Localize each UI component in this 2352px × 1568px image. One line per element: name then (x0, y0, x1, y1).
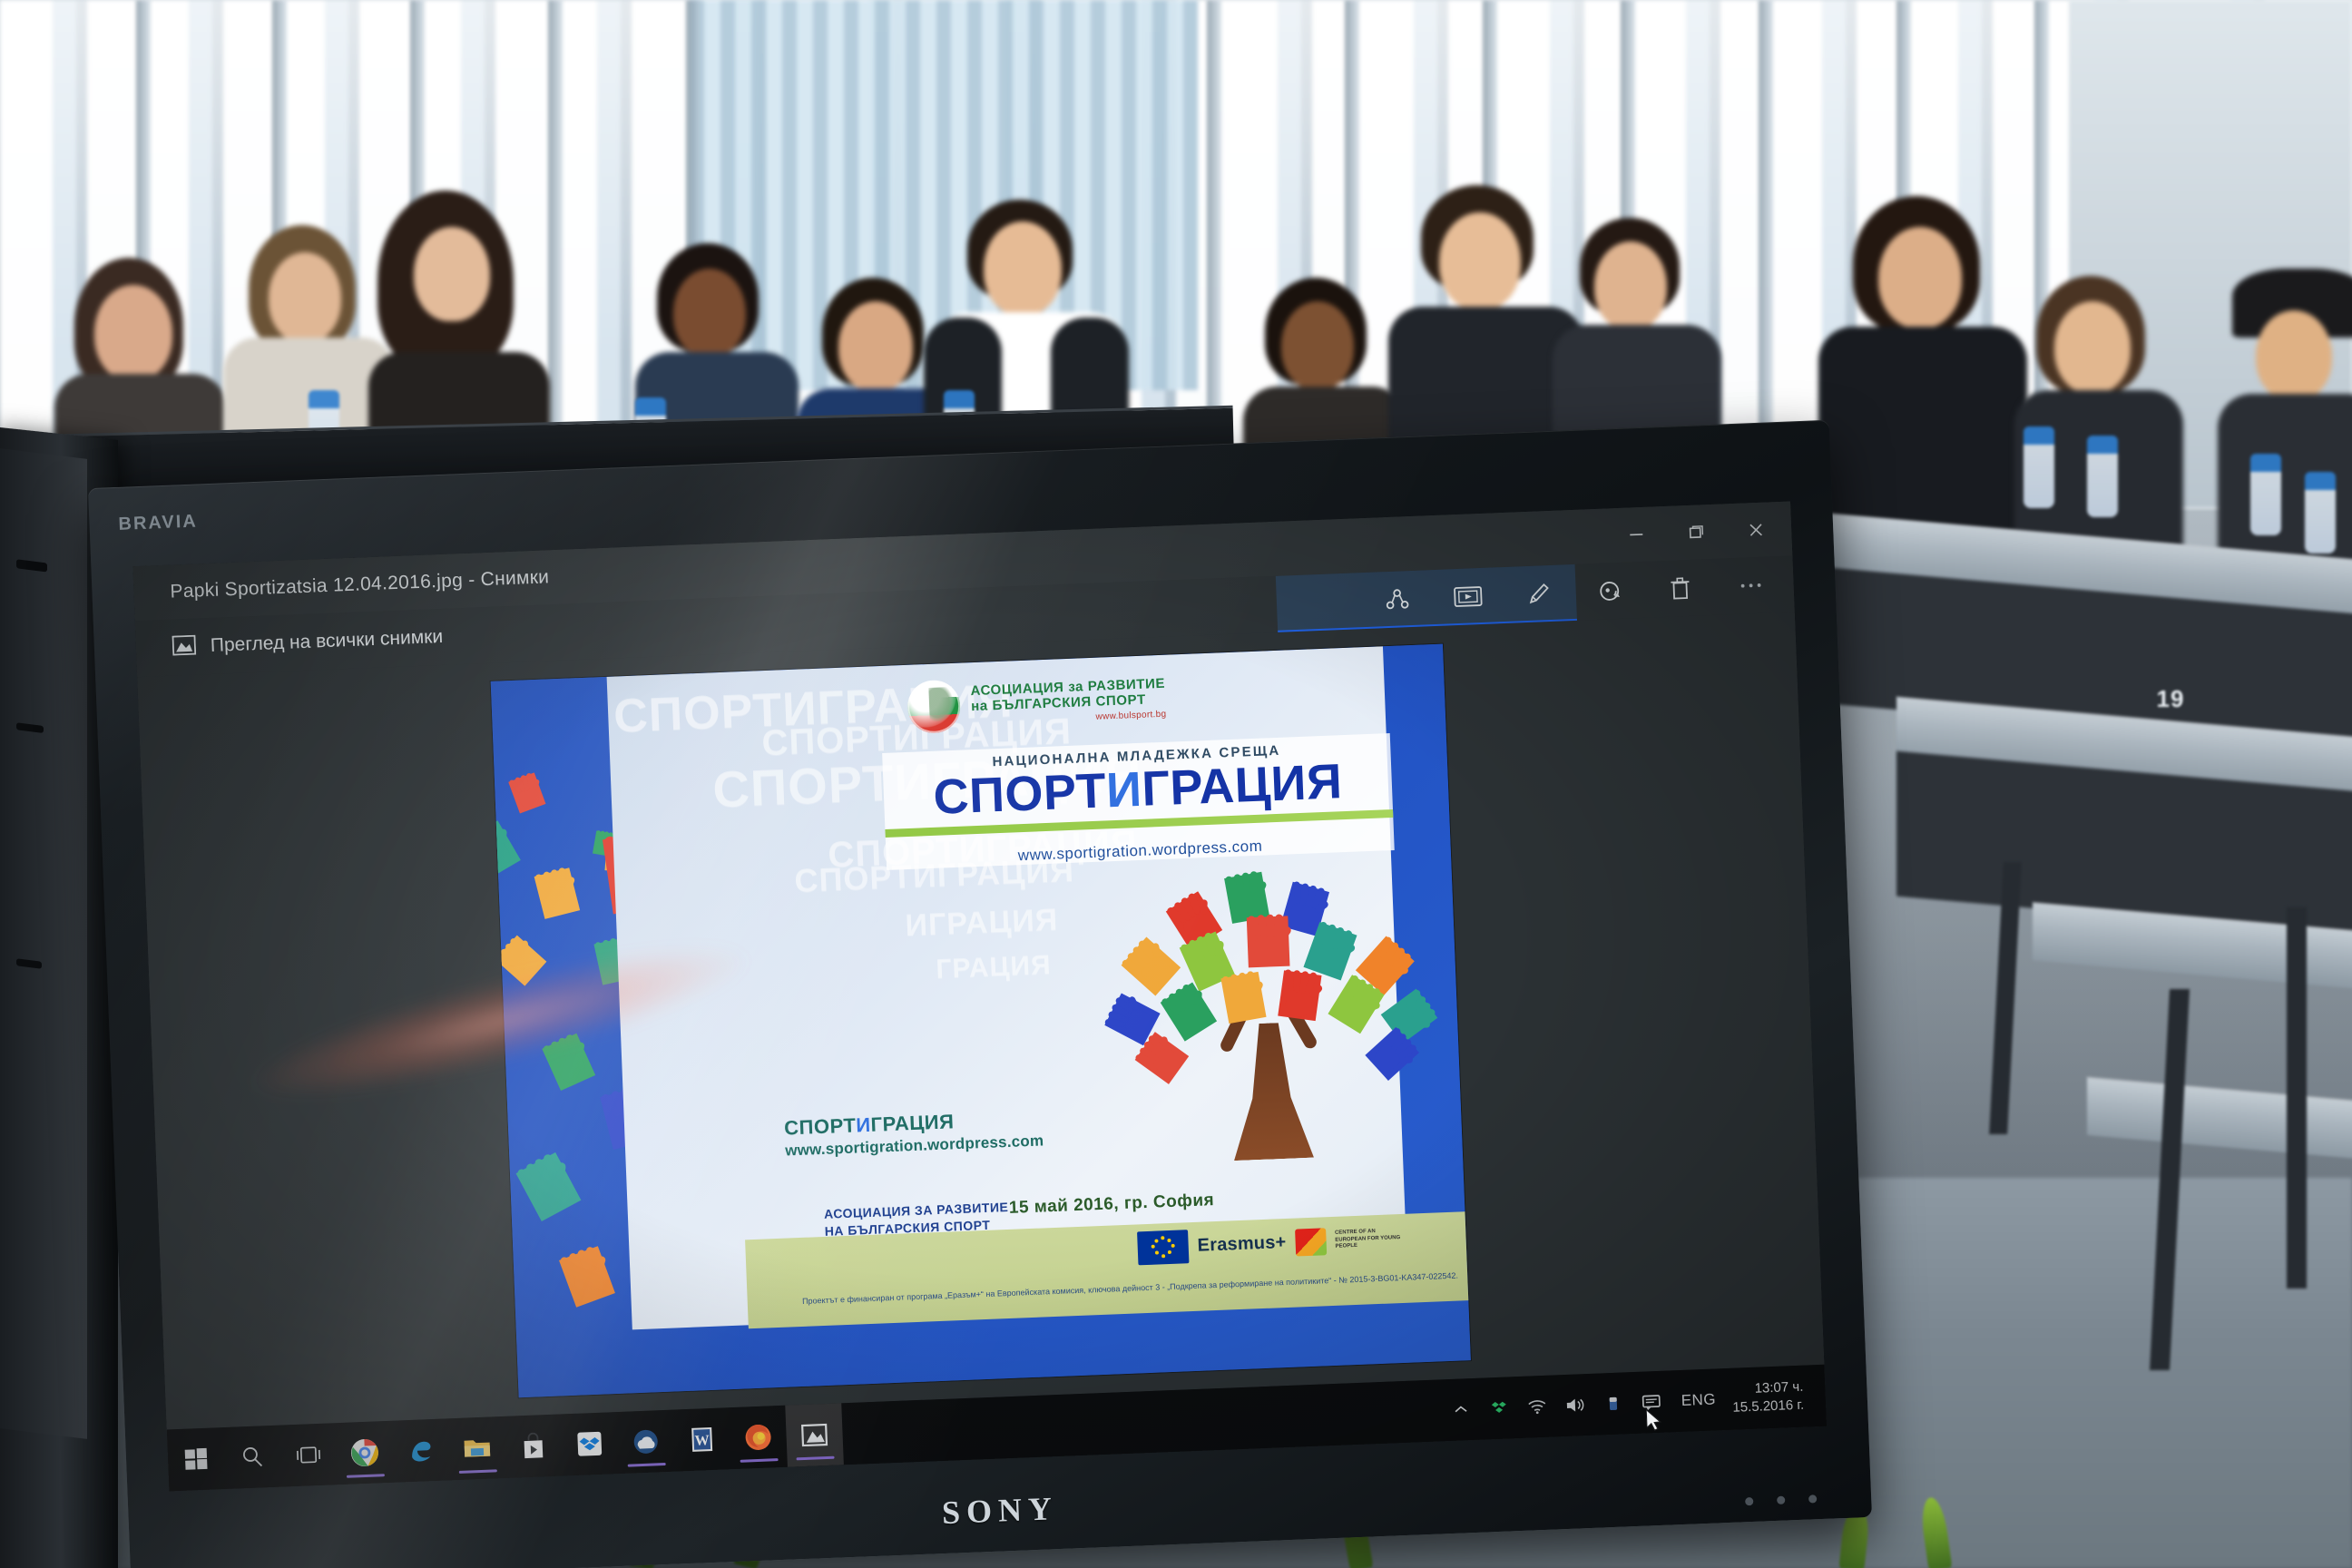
window-title: Papki Sportizatsia 12.04.2016.jpg - Сним… (170, 566, 550, 603)
watermark-text: ГРАЦИЯ (936, 950, 1052, 985)
slide-site-url: www.sportigration.wordpress.com (886, 832, 1394, 870)
title-part-2: ГРАЦИЯ (1141, 754, 1343, 817)
slide-content-panel: СПОРТИГРАЦИЯ СПОРТИГРАЦИЯ СПОРТИГРАЦИЯ С… (607, 646, 1409, 1329)
association-name: АСОЦИАЦИЯ за РАЗВИТИЕ на БЪЛГАРСКИЯ СПОР… (970, 676, 1166, 727)
task-view-button[interactable] (279, 1423, 338, 1486)
word-button[interactable]: W (672, 1407, 731, 1471)
youth-programme-label: CENTRE OF AN EUROPEAN FOR YOUNG PEOPLE (1335, 1228, 1403, 1250)
firefox-button[interactable] (729, 1406, 788, 1469)
eu-flag-icon (1137, 1230, 1189, 1265)
chevron-up-icon[interactable] (1441, 1378, 1482, 1442)
photos-button[interactable] (785, 1403, 844, 1466)
svg-text:W: W (694, 1433, 710, 1449)
left-monitor-rear-panel (0, 448, 87, 1439)
title-accent-letter: И (1105, 762, 1143, 818)
close-button[interactable] (1725, 502, 1787, 559)
taskbar-clock[interactable]: 13:07 ч. 15.5.2016 г. (1726, 1377, 1817, 1417)
edge-button[interactable] (392, 1418, 451, 1482)
water-bottle (2024, 426, 2054, 508)
slideshow-button[interactable] (1432, 567, 1504, 626)
bravia-logo: BRAVIA (118, 511, 198, 534)
left-brand-accent-letter: И (856, 1113, 871, 1137)
minimize-button[interactable] (1605, 506, 1667, 563)
left-brand-part-2: ГРАЦИЯ (870, 1110, 955, 1136)
battery-icon[interactable] (1593, 1372, 1634, 1436)
file-explorer-button[interactable] (448, 1416, 507, 1480)
sony-logo: SONY (941, 1489, 1059, 1532)
tree-trunk (1229, 1022, 1314, 1161)
delete-button[interactable] (1643, 559, 1716, 618)
search-button[interactable] (223, 1426, 282, 1489)
erasmus-label: Erasmus+ (1197, 1232, 1287, 1257)
dropbox-tray-icon[interactable] (1479, 1377, 1520, 1440)
association-logo-block: АСОЦИАЦИЯ за РАЗВИТИЕ на БЪЛГАРСКИЯ СПОР… (906, 671, 1167, 734)
left-brand-part-1: СПОРТ (784, 1113, 857, 1139)
rotate-button[interactable] (1573, 562, 1646, 621)
sony-bravia-monitor: BRAVIA SONY Papki Sportizatsia 12.04.201… (88, 420, 1872, 1568)
edit-button[interactable] (1503, 564, 1575, 623)
window-controls (1605, 502, 1787, 563)
slide-image: СПОРТИГРАЦИЯ СПОРТИГРАЦИЯ СПОРТИГРАЦИЯ С… (491, 644, 1471, 1398)
language-indicator[interactable]: ENG (1670, 1390, 1727, 1410)
onedrive-button[interactable] (616, 1410, 675, 1474)
youth-programme-logo-icon (1295, 1228, 1327, 1256)
tree-of-hands-illustration (1087, 862, 1453, 1175)
start-button[interactable] (167, 1427, 226, 1491)
conference-desk (2087, 1077, 2352, 1159)
water-bottle (2087, 436, 2118, 517)
photo-icon (171, 634, 196, 660)
more-button[interactable] (1714, 556, 1787, 615)
share-button[interactable] (1361, 570, 1434, 629)
windows-desktop: Papki Sportizatsia 12.04.2016.jpg - Сним… (132, 502, 1827, 1492)
dropbox-button[interactable] (560, 1412, 619, 1475)
desk-number-label: 19 (2141, 685, 2200, 723)
monitor-screen: Papki Sportizatsia 12.04.2016.jpg - Сним… (132, 502, 1827, 1492)
store-button[interactable] (504, 1415, 563, 1478)
clock-date: 15.5.2016 г. (1732, 1396, 1804, 1417)
title-part-1: СПОРТ (932, 763, 1107, 824)
bulgaria-globe-logo-icon (906, 680, 961, 734)
slide-title-block: НАЦИОНАЛНА МЛАДЕЖКА СРЕЩА СПОРТИГРАЦИЯ w… (882, 733, 1395, 870)
water-bottle (2250, 454, 2281, 535)
chrome-button[interactable] (336, 1421, 395, 1485)
speaker-icon[interactable] (1555, 1374, 1596, 1437)
watermark-text: ИГРАЦИЯ (905, 903, 1059, 945)
wifi-icon[interactable] (1517, 1375, 1558, 1438)
event-date-location: 15 май 2016, гр. София (1009, 1191, 1215, 1219)
view-all-photos-label: Преглед на всички снимки (210, 626, 443, 657)
water-bottle (2305, 472, 2336, 554)
left-brand-block: СПОРТИГРАЦИЯ www.sportigration.wordpress… (784, 1106, 1044, 1160)
image-viewport[interactable]: СПОРТИГРАЦИЯ СПОРТИГРАЦИЯ СПОРТИГРАЦИЯ С… (137, 612, 1824, 1429)
restore-button[interactable] (1665, 504, 1727, 561)
view-all-photos-button[interactable]: Преглед на всички снимки (159, 619, 456, 666)
photos-app-window: Papki Sportizatsia 12.04.2016.jpg - Сним… (132, 502, 1824, 1430)
